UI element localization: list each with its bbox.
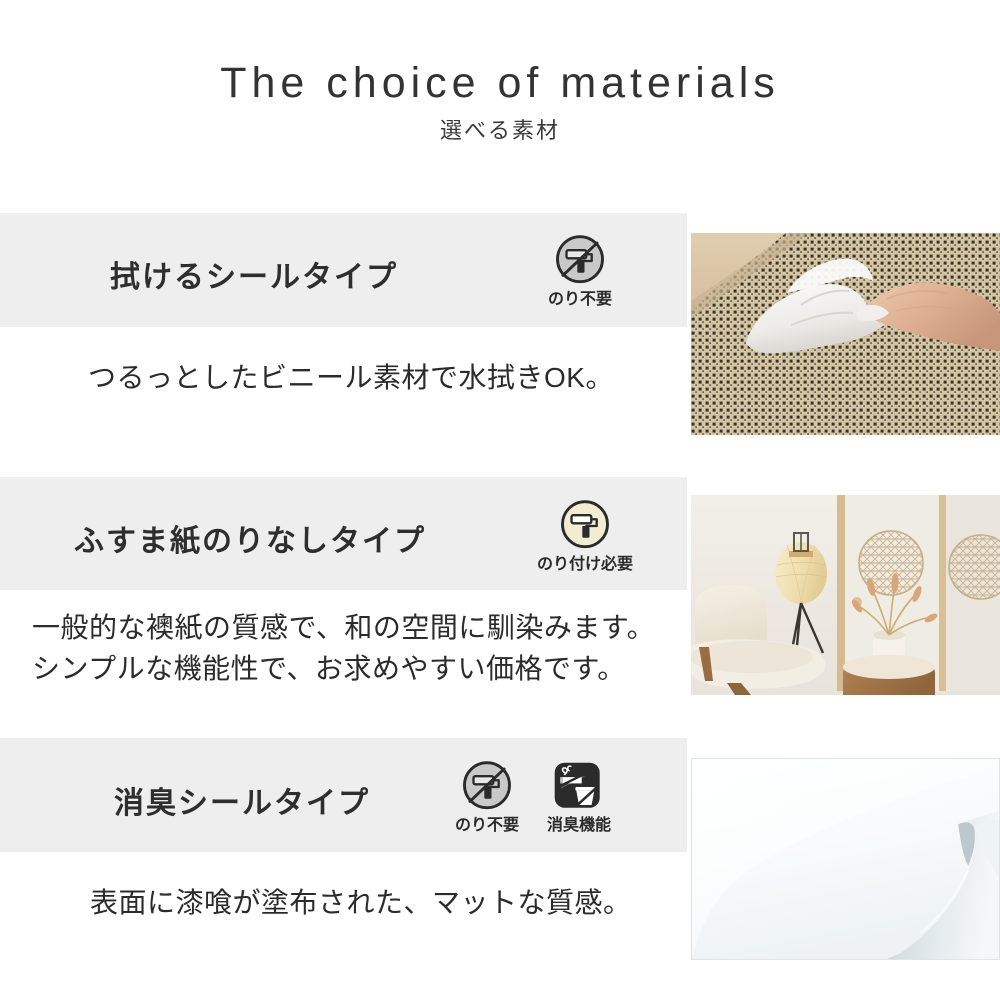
deodorizing-function-icon (552, 760, 606, 814)
badge-no-glue: のり不要 (450, 760, 524, 835)
badge-label: のり不要 (455, 817, 519, 835)
badge-deodorizing: 消臭機能 (542, 760, 616, 835)
section-description-line: 表面に漆喰が塗布された、マットな質感。 (90, 883, 632, 924)
badge-label: 消臭機能 (547, 817, 611, 835)
section-deodorizing-seal-type: 消臭シールタイプ のり不要 (0, 0, 1000, 1000)
photo-white-paper-graphic (692, 759, 999, 959)
section-title: 消臭シールタイプ (114, 778, 370, 822)
description-text: 表面に漆喰が塗布された、マットな質感。 (90, 883, 632, 924)
material-choice-page: The choice of materials 選べる素材 拭けるシールタイプ … (0, 0, 1000, 1000)
photo-white-paper-curl (691, 758, 1000, 960)
no-glue-roller-icon (460, 760, 514, 814)
badge-group: のり不要 消臭機能 (450, 760, 616, 835)
